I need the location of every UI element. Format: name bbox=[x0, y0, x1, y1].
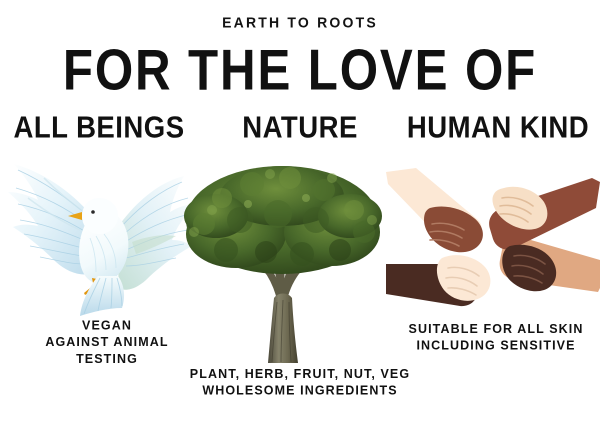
poster-canvas: EARTH TO ROOTS FOR THE LOVE OF ALL BEING… bbox=[0, 0, 600, 426]
caption-nature: PLANT, HERB, FRUIT, NUT, VEG WHOLESOME I… bbox=[160, 365, 440, 399]
caption-all-beings: VEGAN AGAINST ANIMAL TESTING bbox=[12, 317, 202, 368]
caption-line: SUITABLE FOR ALL SKIN bbox=[392, 320, 600, 337]
caption-line: PLANT, HERB, FRUIT, NUT, VEG bbox=[160, 365, 440, 382]
column-title-human-kind: HUMAN KIND bbox=[401, 112, 595, 144]
caption-line: AGAINST ANIMAL bbox=[12, 334, 202, 351]
caption-human-kind: SUITABLE FOR ALL SKIN INCLUDING SENSITIV… bbox=[392, 320, 600, 354]
column-title-nature: NATURE bbox=[201, 112, 399, 144]
caption-line: WHOLESOME INGREDIENTS bbox=[160, 382, 440, 399]
linked-arms-illustration bbox=[386, 168, 600, 318]
brand-tagline: EARTH TO ROOTS bbox=[0, 14, 600, 31]
caption-line: INCLUDING SENSITIVE bbox=[392, 337, 600, 354]
column-title-all-beings: ALL BEINGS bbox=[5, 112, 193, 144]
page-title: FOR THE LOVE OF bbox=[21, 42, 579, 99]
caption-line: VEGAN bbox=[12, 317, 202, 334]
tree-illustration bbox=[182, 158, 382, 363]
dove-illustration bbox=[4, 150, 200, 322]
